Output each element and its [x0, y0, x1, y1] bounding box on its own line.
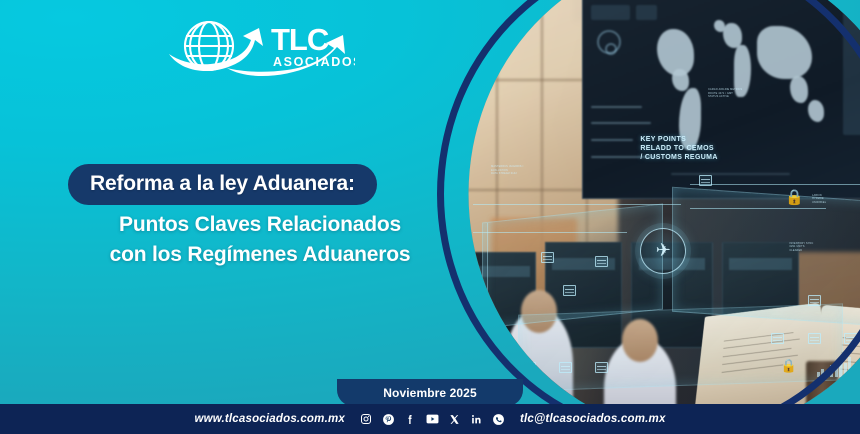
instagram-icon[interactable]	[360, 413, 373, 426]
email-link[interactable]: tlc@tlcasociados.com.mx	[520, 413, 666, 425]
footer-bar: www.tlcasociados.com.mx	[0, 404, 860, 434]
youtube-icon[interactable]	[426, 413, 439, 426]
subtitle-line-1: Puntos Claves Relacionados	[119, 213, 401, 236]
website-link[interactable]: www.tlcasociados.com.mx	[194, 413, 345, 425]
tlc-logo[interactable]: TLC ASOCIADOS	[163, 18, 355, 80]
logo-wordmark: TLC	[271, 22, 329, 57]
date-badge: Noviembre 2025	[337, 379, 523, 406]
subtitle-line-2: con los Regímenes Aduaneros	[110, 243, 411, 266]
x-twitter-icon[interactable]	[448, 413, 461, 426]
facebook-icon[interactable]	[404, 413, 417, 426]
logo-tagline: ASOCIADOS	[273, 55, 355, 69]
promo-banner: MASTERRUS IACERRIS IEVALUATIONDATA STREA…	[0, 0, 860, 434]
pinterest-icon[interactable]	[382, 413, 395, 426]
globe-arrow-icon: TLC ASOCIADOS	[163, 18, 355, 80]
linkedin-icon[interactable]	[470, 413, 483, 426]
page-subtitle: Puntos Claves Relacionados con los Regím…	[60, 210, 460, 270]
whatsapp-icon[interactable]	[492, 413, 505, 426]
social-links	[360, 413, 505, 426]
page-title-pill: Reforma a la ley Aduanera:	[68, 164, 377, 205]
